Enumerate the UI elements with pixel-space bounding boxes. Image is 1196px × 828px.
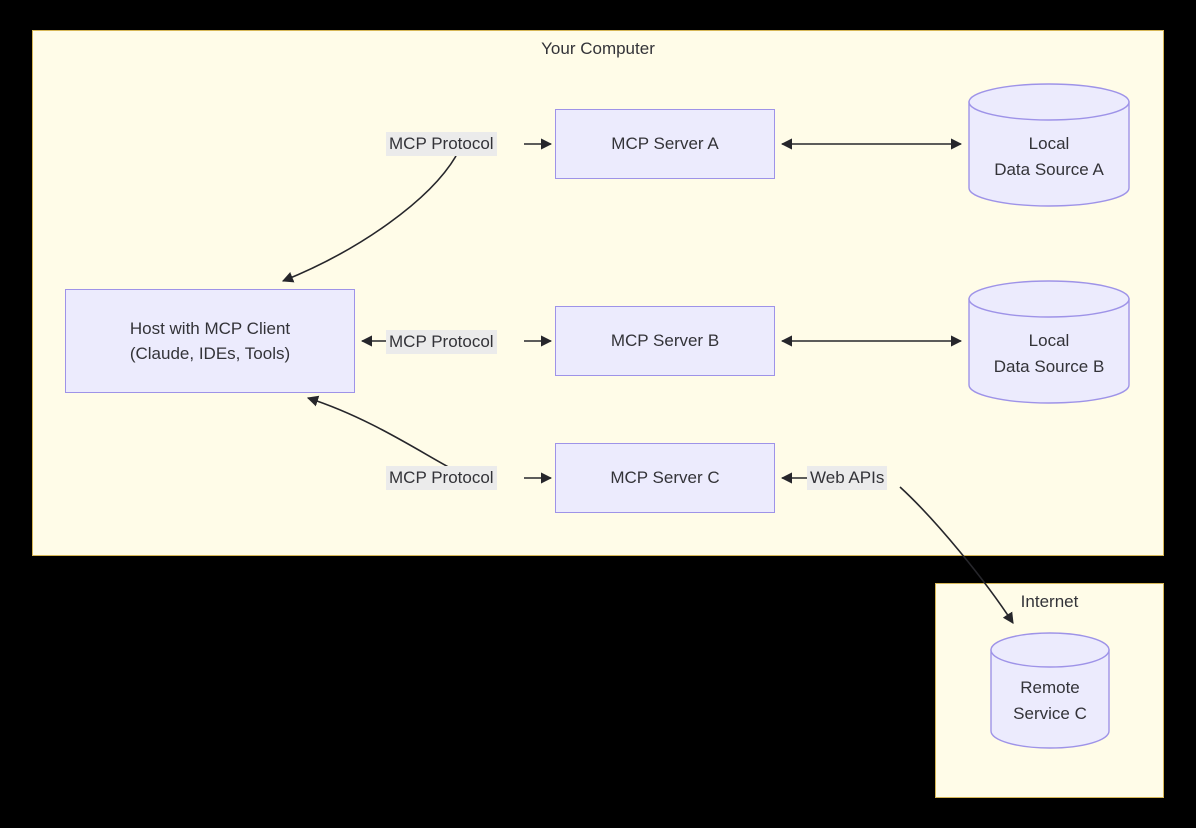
node-local-data-source-a-label: Local Data Source A bbox=[968, 131, 1130, 184]
container-internet-title: Internet bbox=[936, 592, 1163, 612]
node-remote-service-c-line1: Remote bbox=[990, 675, 1110, 701]
node-host-line1: Host with MCP Client bbox=[130, 316, 290, 342]
node-host-with-mcp-client[interactable]: Host with MCP Client (Claude, IDEs, Tool… bbox=[65, 289, 355, 393]
node-mcp-server-c-label: MCP Server C bbox=[610, 465, 719, 491]
node-local-data-source-a-line1: Local bbox=[968, 131, 1130, 157]
node-local-data-source-a[interactable]: Local Data Source A bbox=[968, 83, 1130, 207]
edge-label-mcp-protocol-b: MCP Protocol bbox=[386, 330, 497, 354]
node-local-data-source-b-line2: Data Source B bbox=[968, 354, 1130, 380]
node-mcp-server-c[interactable]: MCP Server C bbox=[555, 443, 775, 513]
node-remote-service-c-label: Remote Service C bbox=[990, 675, 1110, 728]
diagram-canvas: Your Computer Internet bbox=[0, 0, 1196, 828]
node-mcp-server-b[interactable]: MCP Server B bbox=[555, 306, 775, 376]
edge-label-web-apis: Web APIs bbox=[807, 466, 887, 490]
node-remote-service-c[interactable]: Remote Service C bbox=[990, 633, 1110, 748]
edge-label-mcp-protocol-c: MCP Protocol bbox=[386, 466, 497, 490]
node-mcp-server-a-label: MCP Server A bbox=[611, 131, 718, 157]
node-host-line2: (Claude, IDEs, Tools) bbox=[130, 341, 290, 367]
node-local-data-source-b-line1: Local bbox=[968, 328, 1130, 354]
container-your-computer-title: Your Computer bbox=[33, 39, 1163, 59]
node-mcp-server-b-label: MCP Server B bbox=[611, 328, 719, 354]
node-local-data-source-b-label: Local Data Source B bbox=[968, 328, 1130, 381]
node-remote-service-c-line2: Service C bbox=[990, 701, 1110, 727]
node-local-data-source-b[interactable]: Local Data Source B bbox=[968, 280, 1130, 404]
node-mcp-server-a[interactable]: MCP Server A bbox=[555, 109, 775, 179]
node-local-data-source-a-line2: Data Source A bbox=[968, 157, 1130, 183]
edge-label-mcp-protocol-a: MCP Protocol bbox=[386, 132, 497, 156]
